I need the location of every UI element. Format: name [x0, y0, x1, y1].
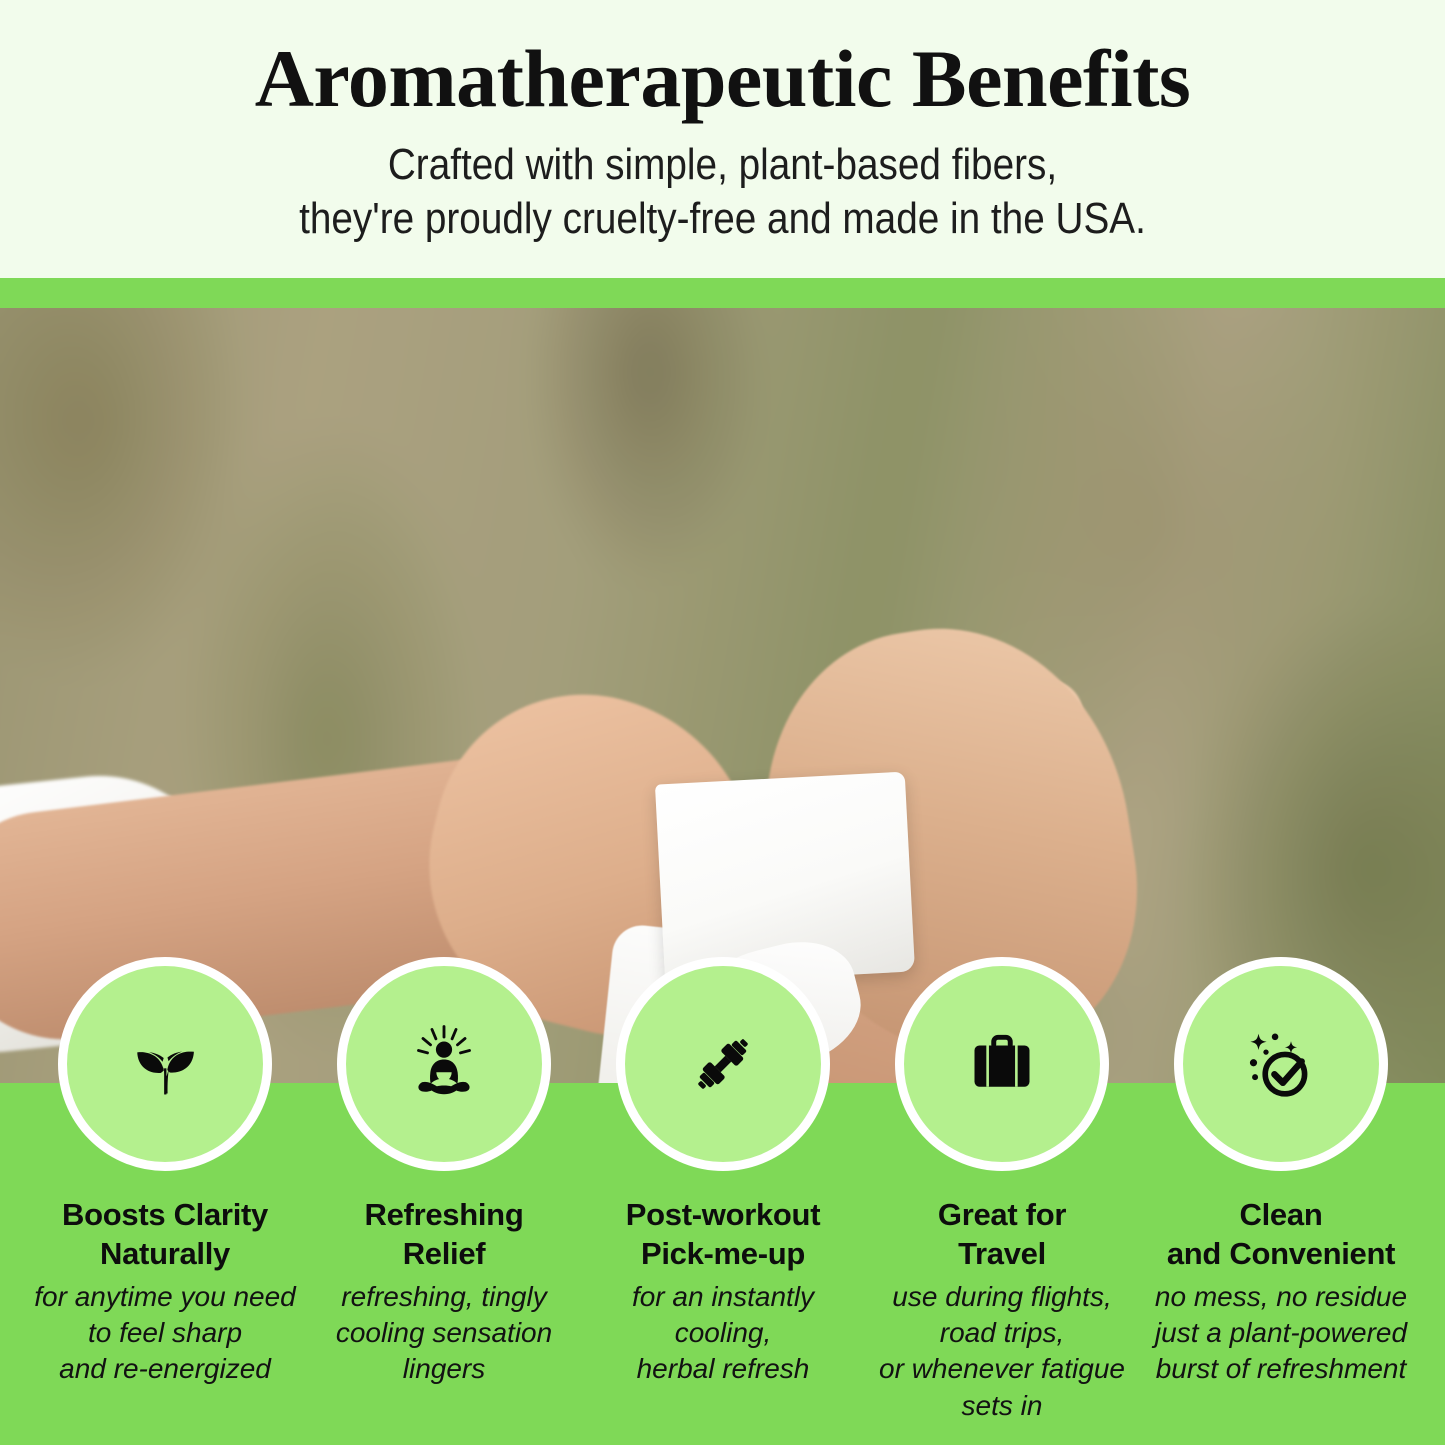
header-section: Aromatherapeutic Benefits Crafted with s… [0, 0, 1445, 278]
benefit-title-line: and Convenient [1136, 1235, 1426, 1274]
benefit-desc-line: road trips, [857, 1315, 1147, 1351]
benefit-desc-5: no mess, no residue just a plant-powered… [1136, 1279, 1426, 1388]
benefit-desc-line: refreshing, tingly [299, 1279, 589, 1315]
benefit-icon-circle-2 [337, 957, 551, 1171]
benefit-desc-2: refreshing, tingly cooling sensation lin… [299, 1279, 589, 1388]
benefit-icon-circle-4 [895, 957, 1109, 1171]
benefit-title-line: Naturally [20, 1235, 310, 1274]
benefit-title-line: Great for [857, 1196, 1147, 1235]
benefit-icons-row [0, 957, 1445, 1187]
benefit-title-3: Post-workout Pick-me-up [578, 1196, 868, 1274]
benefit-desc-line: for anytime you need [20, 1279, 310, 1315]
benefit-desc-line: and re-energized [20, 1351, 310, 1387]
page-title: Aromatherapeutic Benefits [0, 0, 1445, 120]
benefit-desc-4: use during flights, road trips, or whene… [857, 1279, 1147, 1425]
benefit-icon-circle-1 [58, 957, 272, 1171]
benefit-desc-line: for an instantly [578, 1279, 868, 1315]
benefit-desc-line: no mess, no residue [1136, 1279, 1426, 1315]
benefit-cards-row: Boosts Clarity Naturally for anytime you… [0, 1196, 1445, 1436]
benefit-card-1: Boosts Clarity Naturally for anytime you… [20, 1196, 310, 1388]
sprout-icon [119, 1018, 211, 1110]
benefit-desc-line: lingers [299, 1351, 589, 1387]
subtitle-line-1: Crafted with simple, plant-based fibers, [87, 138, 1359, 192]
meditation-icon [396, 1016, 492, 1112]
suitcase-icon [958, 1020, 1046, 1108]
benefit-title-line: Relief [299, 1235, 589, 1274]
benefit-desc-line: to feel sharp [20, 1315, 310, 1351]
benefit-desc-line: or whenever fatigue [857, 1351, 1147, 1387]
benefit-title-5: Clean and Convenient [1136, 1196, 1426, 1274]
benefit-title-line: Boosts Clarity [20, 1196, 310, 1235]
green-divider-bar [0, 278, 1445, 308]
benefit-icon-circle-5 [1174, 957, 1388, 1171]
benefit-desc-line: cooling, [578, 1315, 868, 1351]
benefit-title-line: Post-workout [578, 1196, 868, 1235]
benefit-card-5: Clean and Convenient no mess, no residue… [1136, 1196, 1426, 1388]
benefit-title-line: Refreshing [299, 1196, 589, 1235]
benefit-desc-3: for an instantly cooling, herbal refresh [578, 1279, 868, 1388]
benefit-desc-line: just a plant-powered [1136, 1315, 1426, 1351]
benefit-desc-line: burst of refreshment [1136, 1351, 1426, 1387]
infographic-page: Aromatherapeutic Benefits Crafted with s… [0, 0, 1445, 1445]
benefit-desc-line: cooling sensation [299, 1315, 589, 1351]
benefit-title-1: Boosts Clarity Naturally [20, 1196, 310, 1274]
benefit-desc-line: sets in [857, 1388, 1147, 1424]
benefit-desc-1: for anytime you need to feel sharp and r… [20, 1279, 310, 1388]
benefit-card-4: Great for Travel use during flights, roa… [857, 1196, 1147, 1424]
sparkle-check-icon [1231, 1014, 1331, 1114]
benefit-card-2: Refreshing Relief refreshing, tingly coo… [299, 1196, 589, 1388]
benefit-desc-line: use during flights, [857, 1279, 1147, 1315]
subtitle-line-2: they're proudly cruelty-free and made in… [87, 192, 1359, 246]
dumbbell-icon [675, 1016, 771, 1112]
benefit-title-2: Refreshing Relief [299, 1196, 589, 1274]
page-subtitle: Crafted with simple, plant-based fibers,… [87, 120, 1359, 245]
benefit-desc-line: herbal refresh [578, 1351, 868, 1387]
benefit-title-4: Great for Travel [857, 1196, 1147, 1274]
benefit-title-line: Travel [857, 1235, 1147, 1274]
benefit-title-line: Pick-me-up [578, 1235, 868, 1274]
benefit-title-line: Clean [1136, 1196, 1426, 1235]
benefit-icon-circle-3 [616, 957, 830, 1171]
benefit-card-3: Post-workout Pick-me-up for an instantly… [578, 1196, 868, 1388]
